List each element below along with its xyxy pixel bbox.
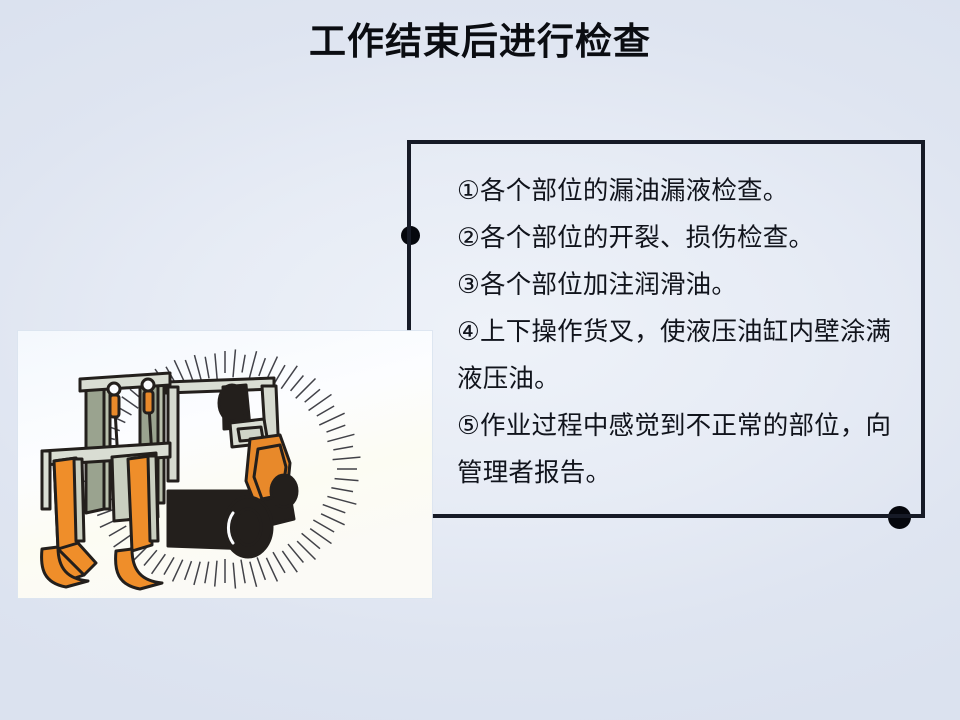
slide-canvas: 工作结束后进行检查 ①各个部位的漏油漏液检查。 ②各个部位的开裂、损伤检查。 ③… [0, 0, 960, 720]
checklist-callout-box: ①各个部位的漏油漏液检查。 ②各个部位的开裂、损伤检查。 ③各个部位加注润滑油。… [407, 140, 925, 518]
checklist-line-4: ④上下操作货叉，使液压油缸内壁涂满液压油。 [457, 309, 909, 403]
page-title: 工作结束后进行检查 [0, 18, 960, 66]
checklist-line-1: ①各个部位的漏油漏液检查。 [457, 168, 909, 215]
checklist-text: ①各个部位的漏油漏液检查。 ②各个部位的开裂、损伤检查。 ③各个部位加注润滑油。… [457, 168, 909, 497]
checklist-line-2: ②各个部位的开裂、损伤检查。 [457, 215, 909, 262]
forklift-illustration [18, 331, 432, 598]
forklift-svg [18, 331, 432, 598]
checklist-line-3: ③各个部位加注润滑油。 [457, 262, 909, 309]
checklist-line-5: ⑤作业过程中感觉到不正常的部位，向管理者报告。 [457, 403, 909, 497]
